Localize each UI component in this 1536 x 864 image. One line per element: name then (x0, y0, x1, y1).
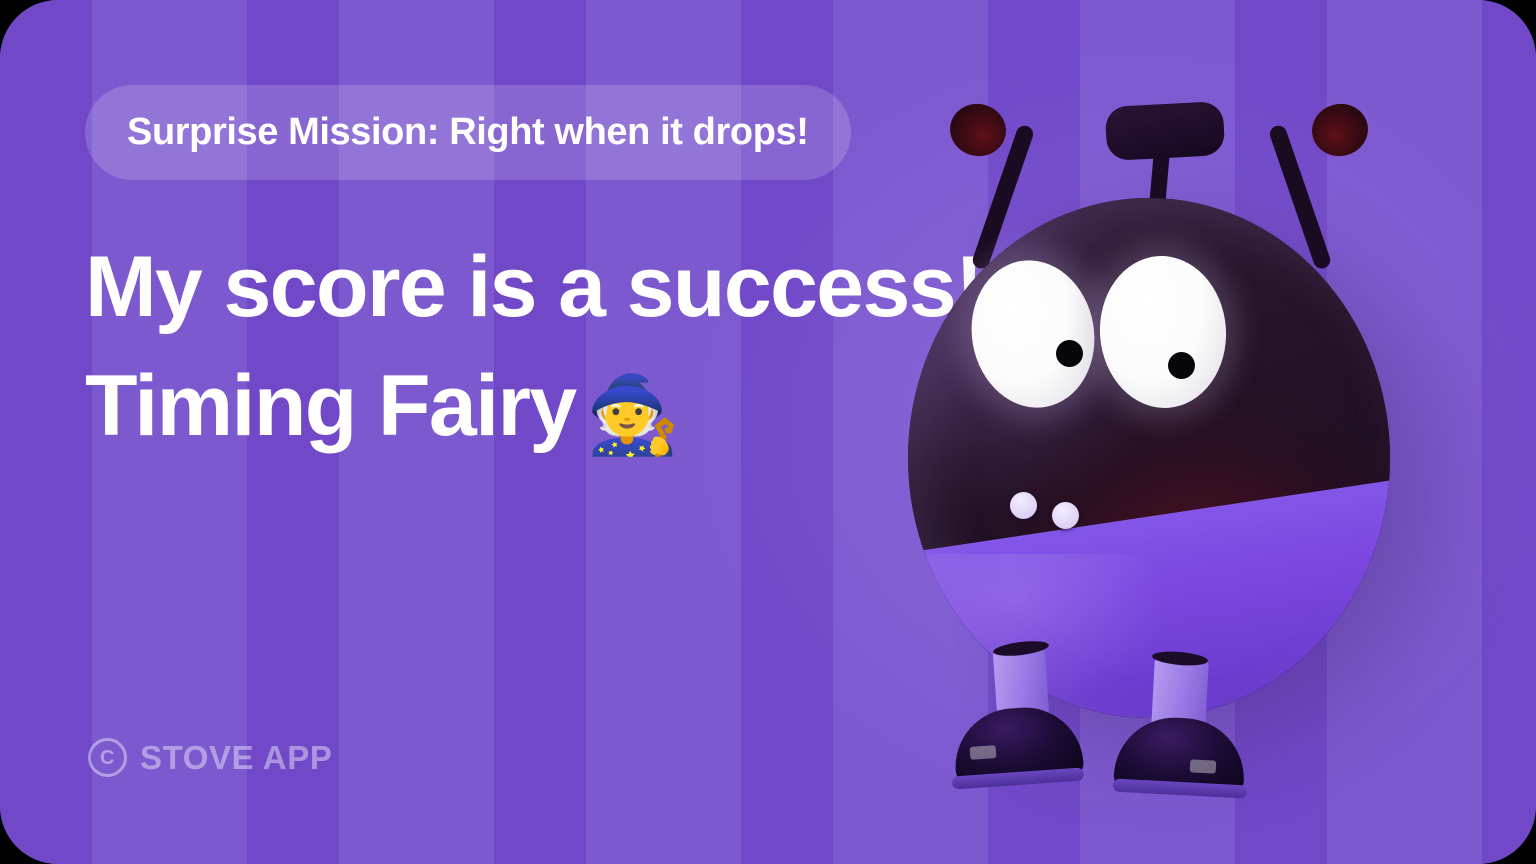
boot-right-highlight (1190, 759, 1217, 773)
belly-dot-1 (1010, 492, 1037, 519)
wizard-icon: 🧙 (586, 373, 681, 458)
headline-line-2: Timing Fairy🧙 (85, 347, 905, 469)
headline-line-1: My score is a success! (85, 228, 905, 347)
pupil-left (1056, 340, 1083, 367)
belly-dot-2 (1052, 502, 1079, 529)
antenna-right-tip-icon (1307, 99, 1373, 162)
pupil-right (1168, 352, 1195, 379)
page-title: My score is a success! Timing Fairy🧙 (85, 228, 905, 469)
antenna-left-tip-icon (945, 99, 1011, 162)
promo-card: Surprise Mission: Right when it drops! M… (0, 0, 1536, 864)
mission-badge: Surprise Mission: Right when it drops! (85, 85, 851, 180)
headline-line-2-text: Timing Fairy (85, 358, 576, 454)
footer-brand: C STOVE APP (88, 738, 332, 777)
copyright-icon: C (88, 738, 127, 777)
boot-left-highlight (970, 745, 997, 760)
antenna-middle-cap (1105, 101, 1226, 161)
mascot-character (860, 70, 1480, 800)
text-content: Surprise Mission: Right when it drops! M… (85, 85, 905, 469)
brand-label: STOVE APP (140, 739, 332, 777)
